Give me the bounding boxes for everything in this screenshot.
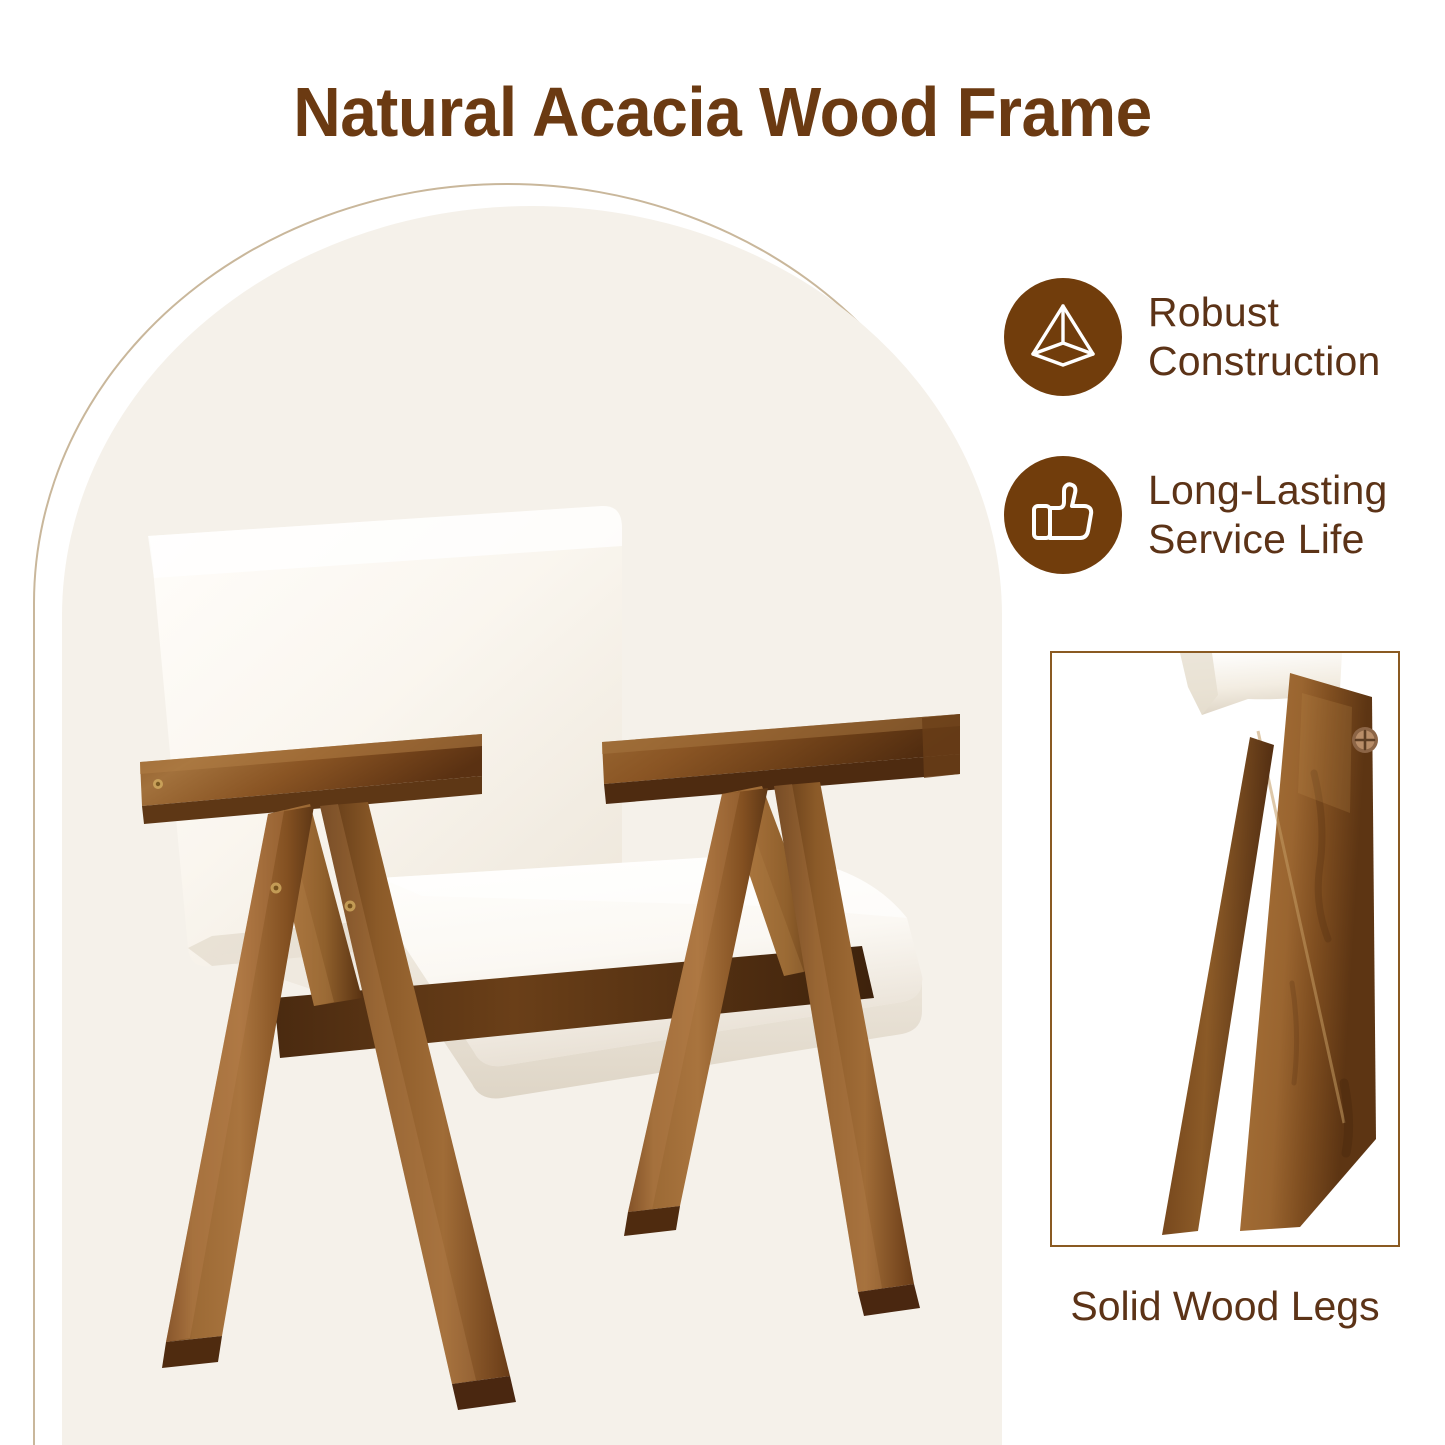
pyramid-icon bbox=[1027, 299, 1099, 376]
feature-long-lasting-service-life: Long-Lasting Service Life bbox=[1004, 456, 1387, 574]
feature-label: Long-Lasting Service Life bbox=[1148, 466, 1387, 564]
detail-inset-caption: Solid Wood Legs bbox=[1050, 1283, 1400, 1330]
detail-inset-panel bbox=[1050, 651, 1400, 1247]
feature-badge bbox=[1004, 278, 1122, 396]
page-title: Natural Acacia Wood Frame bbox=[43, 72, 1401, 152]
product-feature-graphic: Natural Acacia Wood Frame bbox=[0, 0, 1445, 1445]
product-image bbox=[62, 206, 1002, 1445]
feature-badge bbox=[1004, 456, 1122, 574]
feature-label: Robust Construction bbox=[1148, 288, 1381, 386]
feature-robust-construction: Robust Construction bbox=[1004, 278, 1381, 396]
inset-screw-head bbox=[1352, 727, 1378, 753]
thumbs-up-icon bbox=[1026, 476, 1100, 555]
